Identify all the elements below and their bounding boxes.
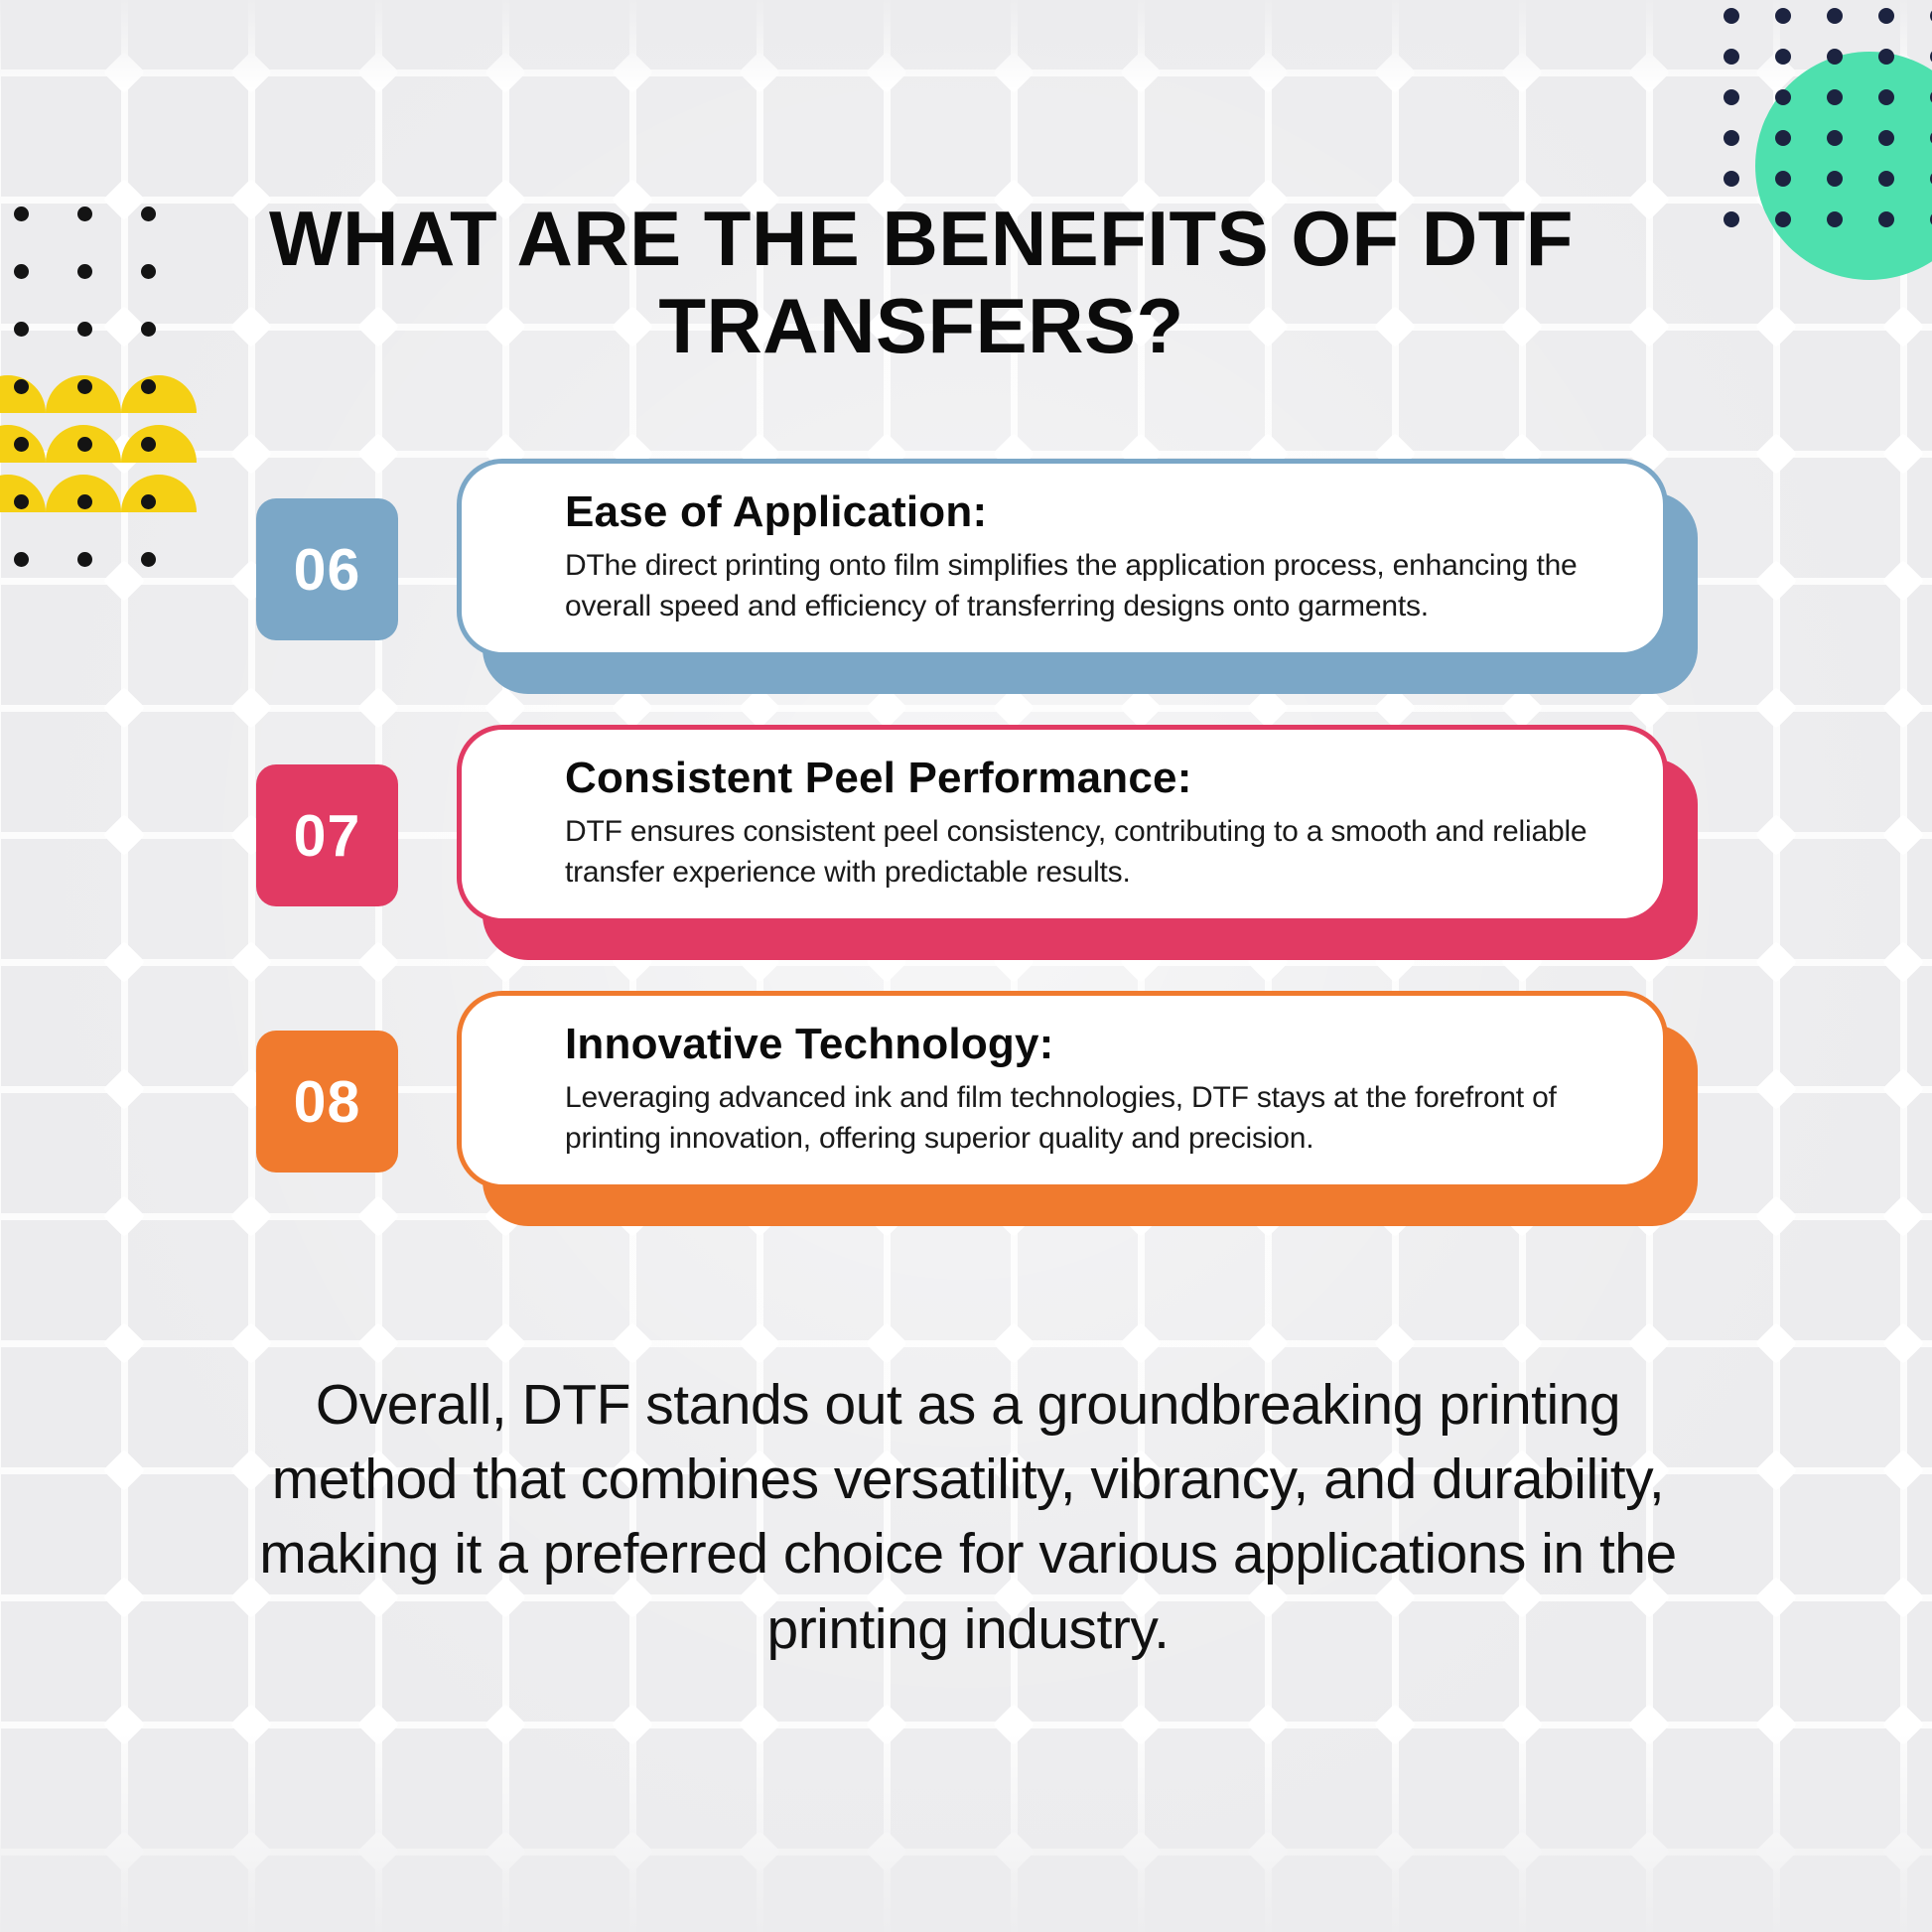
- dot-grid-right-decoration: [1714, 0, 1932, 228]
- decorative-dot: [1878, 89, 1894, 105]
- arch-shape: [121, 375, 197, 413]
- grid-diamond: [1755, 1449, 1797, 1491]
- decorative-dot: [77, 207, 92, 221]
- grid-diamond: [739, 1704, 780, 1745]
- benefit-item-07: 07 Consistent Peel Performance: DTF ensu…: [0, 725, 1932, 973]
- decorative-dot: [77, 264, 92, 279]
- decorative-dot: [14, 322, 29, 337]
- grid-diamond: [103, 306, 145, 347]
- infographic-canvas: WHAT ARE THE BENEFITS OF DTF TRANSFERS? …: [0, 0, 1932, 1932]
- decorative-dot: [1775, 8, 1791, 24]
- decorative-dot: [1827, 8, 1843, 24]
- grid-diamond: [357, 1322, 399, 1364]
- decorative-dot: [14, 379, 29, 394]
- decorative-dot: [1878, 130, 1894, 146]
- grid-diamond: [612, 52, 653, 93]
- decorative-dot: [1878, 211, 1894, 227]
- grid-diamond: [103, 1704, 145, 1745]
- summary-paragraph: Overall, DTF stands out as a groundbreak…: [238, 1368, 1698, 1667]
- grid-diamond: [1120, 1831, 1162, 1872]
- grid-diamond: [1628, 1704, 1670, 1745]
- grid-diamond: [1374, 1704, 1416, 1745]
- grid-diamond: [1755, 1831, 1797, 1872]
- benefit-title-08: Innovative Technology:: [565, 1020, 1623, 1069]
- grid-diamond: [866, 52, 907, 93]
- decorative-dot: [1724, 49, 1739, 65]
- grid-diamond: [1247, 52, 1289, 93]
- grid-diamond: [1120, 1322, 1162, 1364]
- grid-diamond: [1501, 52, 1543, 93]
- grid-diamond: [1755, 1577, 1797, 1618]
- decorative-dot: [141, 322, 156, 337]
- grid-diamond: [484, 1322, 526, 1364]
- benefit-item-06: 06 Ease of Application: DThe direct prin…: [0, 459, 1932, 707]
- grid-diamond: [866, 1322, 907, 1364]
- grid-diamond: [612, 1322, 653, 1364]
- grid-diamond: [739, 52, 780, 93]
- benefit-title-07: Consistent Peel Performance:: [565, 754, 1623, 803]
- grid-diamond: [1501, 1704, 1543, 1745]
- grid-diamond: [484, 1704, 526, 1745]
- grid-diamond: [1247, 1704, 1289, 1745]
- grid-diamond: [1755, 1322, 1797, 1364]
- grid-diamond: [739, 1831, 780, 1872]
- decorative-dot: [1724, 171, 1739, 187]
- grid-diamond: [1882, 1449, 1924, 1491]
- grid-diamond: [866, 1704, 907, 1745]
- grid-diamond: [1882, 1704, 1924, 1745]
- decorative-dot: [14, 437, 29, 452]
- decorative-dot: [14, 264, 29, 279]
- decorative-dot: [77, 437, 92, 452]
- grid-diamond: [1755, 1704, 1797, 1745]
- benefit-item-08: 08 Innovative Technology: Leveraging adv…: [0, 991, 1932, 1239]
- benefit-card-08[interactable]: Innovative Technology: Leveraging advanc…: [457, 991, 1668, 1189]
- decorative-dot: [1724, 211, 1739, 227]
- grid-diamond: [1882, 306, 1924, 347]
- grid-diamond: [103, 1831, 145, 1872]
- arch-shape: [121, 425, 197, 463]
- grid-diamond: [1628, 1322, 1670, 1364]
- grid-diamond: [357, 52, 399, 93]
- decorative-dot: [14, 207, 29, 221]
- grid-diamond: [993, 1704, 1035, 1745]
- grid-diamond: [1374, 1322, 1416, 1364]
- decorative-dot: [141, 437, 156, 452]
- decorative-dot: [1775, 171, 1791, 187]
- grid-diamond: [1374, 1831, 1416, 1872]
- grid-diamond: [103, 52, 145, 93]
- benefit-title-06: Ease of Application:: [565, 487, 1623, 537]
- grid-diamond: [357, 1704, 399, 1745]
- grid-diamond: [1120, 52, 1162, 93]
- decorative-dot: [1724, 89, 1739, 105]
- decorative-dot: [1724, 8, 1739, 24]
- decorative-dot: [1827, 211, 1843, 227]
- decorative-dot: [1775, 211, 1791, 227]
- grid-diamond: [103, 179, 145, 220]
- decorative-dot: [1775, 89, 1791, 105]
- grid-diamond: [1501, 1831, 1543, 1872]
- benefit-card-06[interactable]: Ease of Application: DThe direct printin…: [457, 459, 1668, 657]
- grid-diamond: [1628, 52, 1670, 93]
- grid-diamond: [612, 1704, 653, 1745]
- grid-diamond: [993, 1831, 1035, 1872]
- grid-diamond: [484, 1831, 526, 1872]
- grid-diamond: [103, 1577, 145, 1618]
- grid-diamond: [484, 52, 526, 93]
- grid-diamond: [739, 1322, 780, 1364]
- decorative-dot: [141, 379, 156, 394]
- benefit-description-07: DTF ensures consistent peel consistency,…: [565, 811, 1623, 894]
- decorative-dot: [1827, 89, 1843, 105]
- grid-diamond: [993, 52, 1035, 93]
- badge-number-07: 07: [256, 764, 398, 906]
- grid-diamond: [993, 1322, 1035, 1364]
- benefit-card-07[interactable]: Consistent Peel Performance: DTF ensures…: [457, 725, 1668, 923]
- grid-diamond: [1882, 1831, 1924, 1872]
- decorative-dot: [77, 379, 92, 394]
- grid-diamond: [1501, 1322, 1543, 1364]
- grid-diamond: [1882, 1577, 1924, 1618]
- decorative-dot: [1827, 49, 1843, 65]
- badge-number-06: 06: [256, 498, 398, 640]
- grid-diamond: [357, 1831, 399, 1872]
- grid-diamond: [230, 1704, 272, 1745]
- grid-diamond: [1755, 306, 1797, 347]
- grid-diamond: [1120, 1704, 1162, 1745]
- decorative-dot: [1724, 130, 1739, 146]
- decorative-dot: [1775, 49, 1791, 65]
- decorative-dot: [1878, 49, 1894, 65]
- grid-diamond: [230, 1322, 272, 1364]
- grid-diamond: [103, 1322, 145, 1364]
- decorative-dot: [1827, 171, 1843, 187]
- grid-diamond: [612, 1831, 653, 1872]
- grid-diamond: [1628, 1831, 1670, 1872]
- decorative-dot: [1878, 171, 1894, 187]
- page-title: WHAT ARE THE BENEFITS OF DTF TRANSFERS?: [207, 195, 1636, 369]
- grid-diamond: [1247, 1831, 1289, 1872]
- grid-diamond: [230, 1831, 272, 1872]
- decorative-dot: [141, 207, 156, 221]
- benefit-description-08: Leveraging advanced ink and film technol…: [565, 1077, 1623, 1160]
- grid-diamond: [866, 1831, 907, 1872]
- decorative-dot: [1827, 130, 1843, 146]
- grid-diamond: [1882, 1322, 1924, 1364]
- grid-diamond: [230, 52, 272, 93]
- decorative-dot: [141, 264, 156, 279]
- grid-diamond: [1247, 1322, 1289, 1364]
- grid-diamond: [103, 1449, 145, 1491]
- grid-diamond: [1374, 52, 1416, 93]
- decorative-dot: [1775, 130, 1791, 146]
- benefit-description-06: DThe direct printing onto film simplifie…: [565, 545, 1623, 627]
- decorative-dot: [77, 322, 92, 337]
- decorative-dot: [1878, 8, 1894, 24]
- badge-number-08: 08: [256, 1031, 398, 1173]
